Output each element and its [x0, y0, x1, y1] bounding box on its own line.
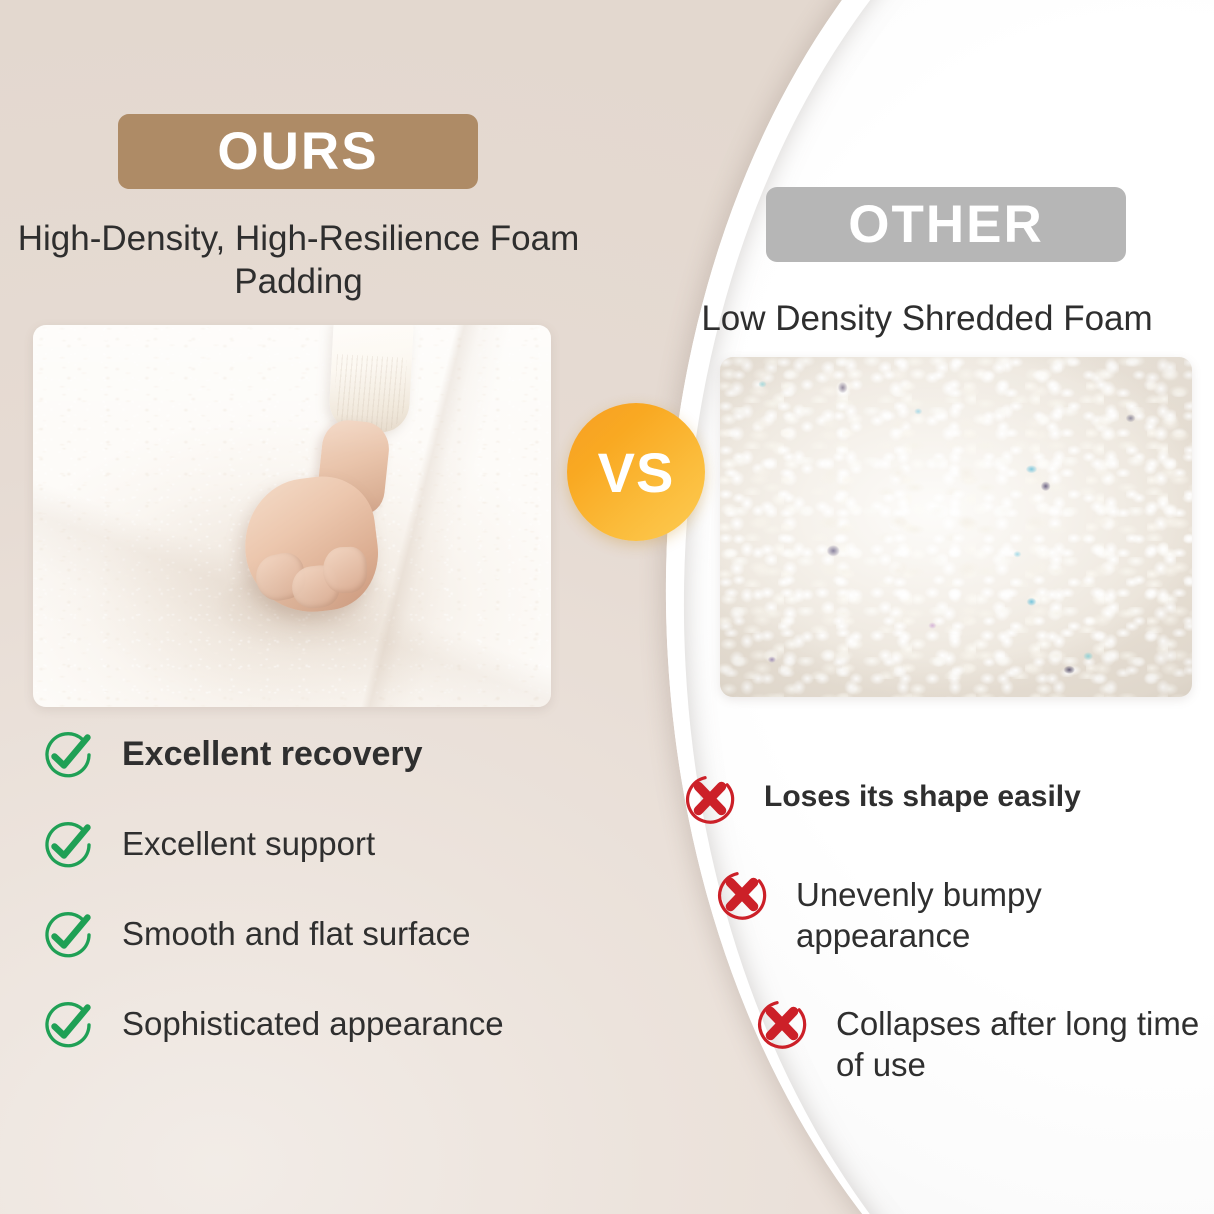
comparison-infographic: OURS High-Density, High-Resilience Foam … — [0, 0, 1214, 1214]
list-item: Excellent recovery — [40, 727, 600, 783]
list-item-label: Loses its shape easily — [764, 772, 1081, 816]
cross-circle-icon — [754, 997, 810, 1053]
list-item-label: Excellent support — [122, 817, 375, 864]
other-photo — [720, 357, 1192, 697]
ours-badge: OURS — [118, 114, 478, 189]
cushion-edge-shading — [33, 325, 551, 707]
list-item-label: Excellent recovery — [122, 727, 423, 776]
check-circle-icon — [40, 817, 96, 873]
list-item-label: Smooth and flat surface — [122, 907, 471, 954]
cross-circle-icon — [682, 772, 738, 828]
ours-heading: High-Density, High-Resilience Foam Paddi… — [0, 218, 597, 303]
list-item: Smooth and flat surface — [40, 907, 600, 963]
other-feature-list: Loses its shape easily Unevenly bumpy ap… — [682, 772, 1202, 1125]
other-badge: OTHER — [766, 187, 1126, 262]
list-item: Loses its shape easily — [682, 772, 1202, 828]
other-heading: Low Density Shredded Foam — [640, 298, 1214, 341]
list-item: Sophisticated appearance — [40, 997, 600, 1053]
list-item-label: Sophisticated appearance — [122, 997, 504, 1044]
vs-badge: VS — [567, 403, 705, 541]
cross-circle-icon — [714, 868, 770, 924]
list-item-label: Collapses after long time of use — [836, 997, 1202, 1086]
check-circle-icon — [40, 907, 96, 963]
photo-vignette — [720, 357, 1192, 697]
list-item: Unevenly bumpy appearance — [714, 868, 1202, 957]
list-item-label: Unevenly bumpy appearance — [796, 868, 1202, 957]
list-item: Collapses after long time of use — [754, 997, 1202, 1086]
list-item: Excellent support — [40, 817, 600, 873]
check-circle-icon — [40, 727, 96, 783]
check-circle-icon — [40, 997, 96, 1053]
ours-feature-list: Excellent recovery Excellent support Smo… — [40, 727, 600, 1087]
ours-photo — [33, 325, 551, 707]
